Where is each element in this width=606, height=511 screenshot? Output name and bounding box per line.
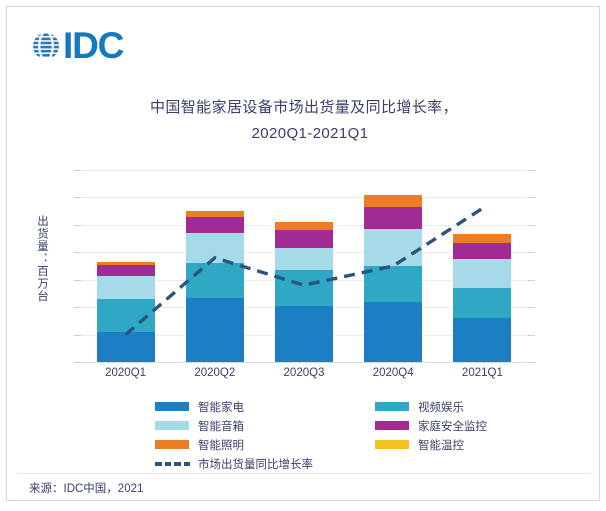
idc-logo: IDC (31, 27, 123, 65)
plot-area: 706050403020100 40%30%20%10%0%-10%-20%-3… (81, 170, 527, 362)
tick-mark (528, 170, 535, 171)
tick-mark (74, 362, 81, 363)
legend-color-swatch (155, 421, 189, 430)
legend-label: 市场出货量同比增长率 (198, 456, 313, 472)
tick-mark (528, 225, 535, 226)
legend-label: 智能温控 (418, 437, 464, 453)
legend-dashed-swatch (155, 459, 189, 468)
chart-card: IDC 中国智能家居设备市场出货量及同比增长率， 2020Q1-2021Q1 出… (6, 6, 600, 501)
growth-rate-polyline (126, 208, 483, 334)
tick-mark (528, 335, 535, 336)
tick-mark (528, 280, 535, 281)
globe-icon (31, 31, 61, 61)
chart-title-line2: 2020Q1-2021Q1 (7, 121, 601, 147)
legend-item[interactable]: 市场出货量同比增长率 (155, 454, 313, 473)
logo-wordmark: IDC (63, 30, 123, 62)
legend-label: 家庭安全监控 (418, 418, 487, 434)
tick-mark (74, 225, 81, 226)
tick-mark (74, 252, 81, 253)
footer-divider (17, 473, 591, 474)
x-axis-label: 2020Q2 (170, 367, 260, 379)
x-axis-label: 2020Q3 (259, 367, 349, 379)
y-axis-left-label: 出货量：百万台 (33, 215, 49, 303)
legend-item[interactable]: 智能音箱 (155, 416, 313, 435)
x-axis-label: 2020Q1 (81, 367, 171, 379)
legend-item[interactable]: 家庭安全监控 (375, 416, 487, 435)
legend-color-swatch (375, 402, 409, 411)
legend-color-swatch (155, 440, 189, 449)
tick-mark (528, 197, 535, 198)
tick-mark (528, 362, 535, 363)
x-axis-label: 2021Q1 (437, 367, 527, 379)
legend-item[interactable]: 智能温控 (375, 435, 487, 454)
legend-label: 智能照明 (198, 437, 244, 453)
legend-item[interactable]: 智能照明 (155, 435, 313, 454)
tick-mark (74, 197, 81, 198)
legend-color-swatch (375, 440, 409, 449)
legend-label: 视频娱乐 (418, 399, 464, 415)
gridline (81, 362, 527, 363)
tick-mark (528, 307, 535, 308)
chart-title-line1: 中国智能家居设备市场出货量及同比增长率， (7, 95, 601, 121)
tick-mark (74, 170, 81, 171)
tick-mark (74, 307, 81, 308)
legend-color-swatch (375, 421, 409, 430)
tick-mark (74, 280, 81, 281)
x-axis-label: 2020Q4 (348, 367, 438, 379)
legend-column-right: 视频娱乐家庭安全监控智能温控 (375, 397, 487, 454)
legend-item[interactable]: 视频娱乐 (375, 397, 487, 416)
legend-label: 智能音箱 (198, 418, 244, 434)
tick-mark (74, 335, 81, 336)
legend-color-swatch (155, 402, 189, 411)
tick-mark (528, 252, 535, 253)
legend-column-left: 智能家电智能音箱智能照明市场出货量同比增长率 (155, 397, 313, 473)
growth-rate-line (81, 170, 527, 362)
legend-label: 智能家电 (198, 399, 244, 415)
source-note: 来源：IDC中国，2021 (29, 480, 143, 496)
chart-title: 中国智能家居设备市场出货量及同比增长率， 2020Q1-2021Q1 (7, 95, 601, 147)
legend-item[interactable]: 智能家电 (155, 397, 313, 416)
